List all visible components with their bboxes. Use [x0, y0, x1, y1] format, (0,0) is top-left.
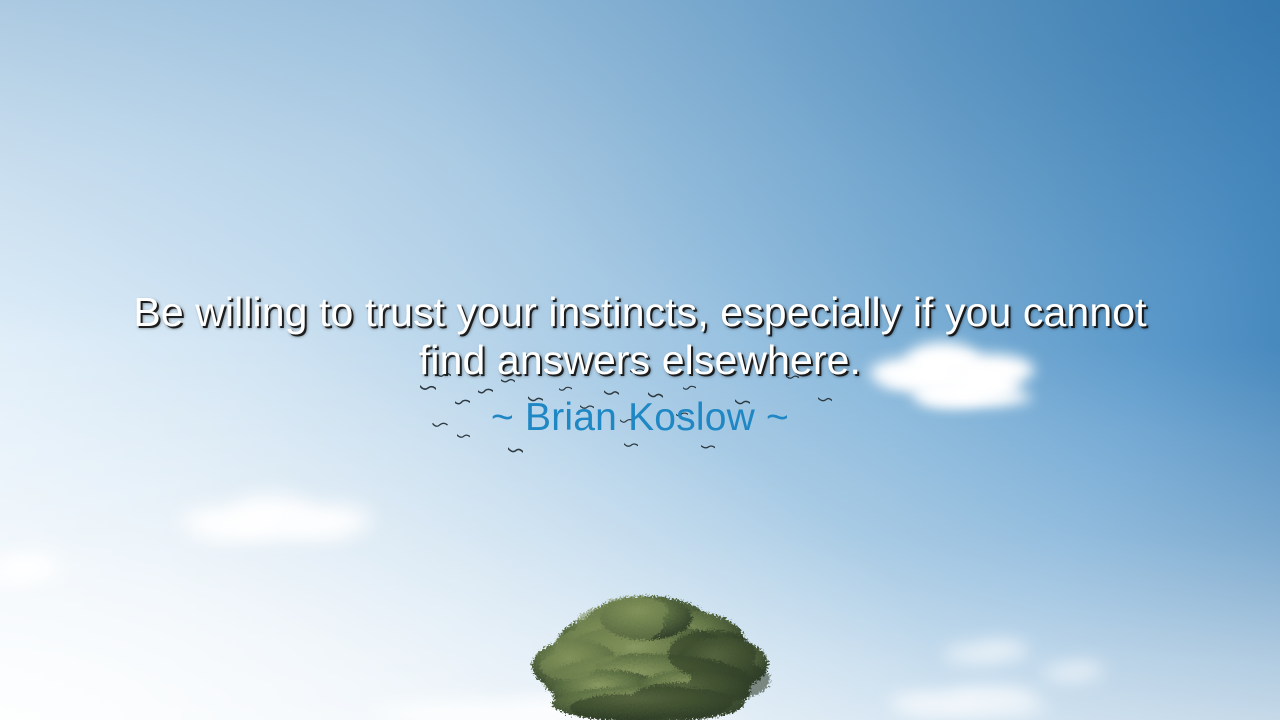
bird-icon — [624, 442, 638, 450]
quote-author: ~ Brian Koslow ~ — [60, 395, 1220, 441]
quote-block: Be willing to trust your instincts, espe… — [0, 288, 1280, 441]
bird-icon — [701, 444, 715, 452]
bird-icon — [508, 447, 523, 456]
quote-text: Be willing to trust your instincts, espe… — [60, 288, 1220, 384]
quote-image-canvas: Be willing to trust your instincts, espe… — [0, 0, 1280, 720]
oak-tree — [516, 588, 780, 720]
